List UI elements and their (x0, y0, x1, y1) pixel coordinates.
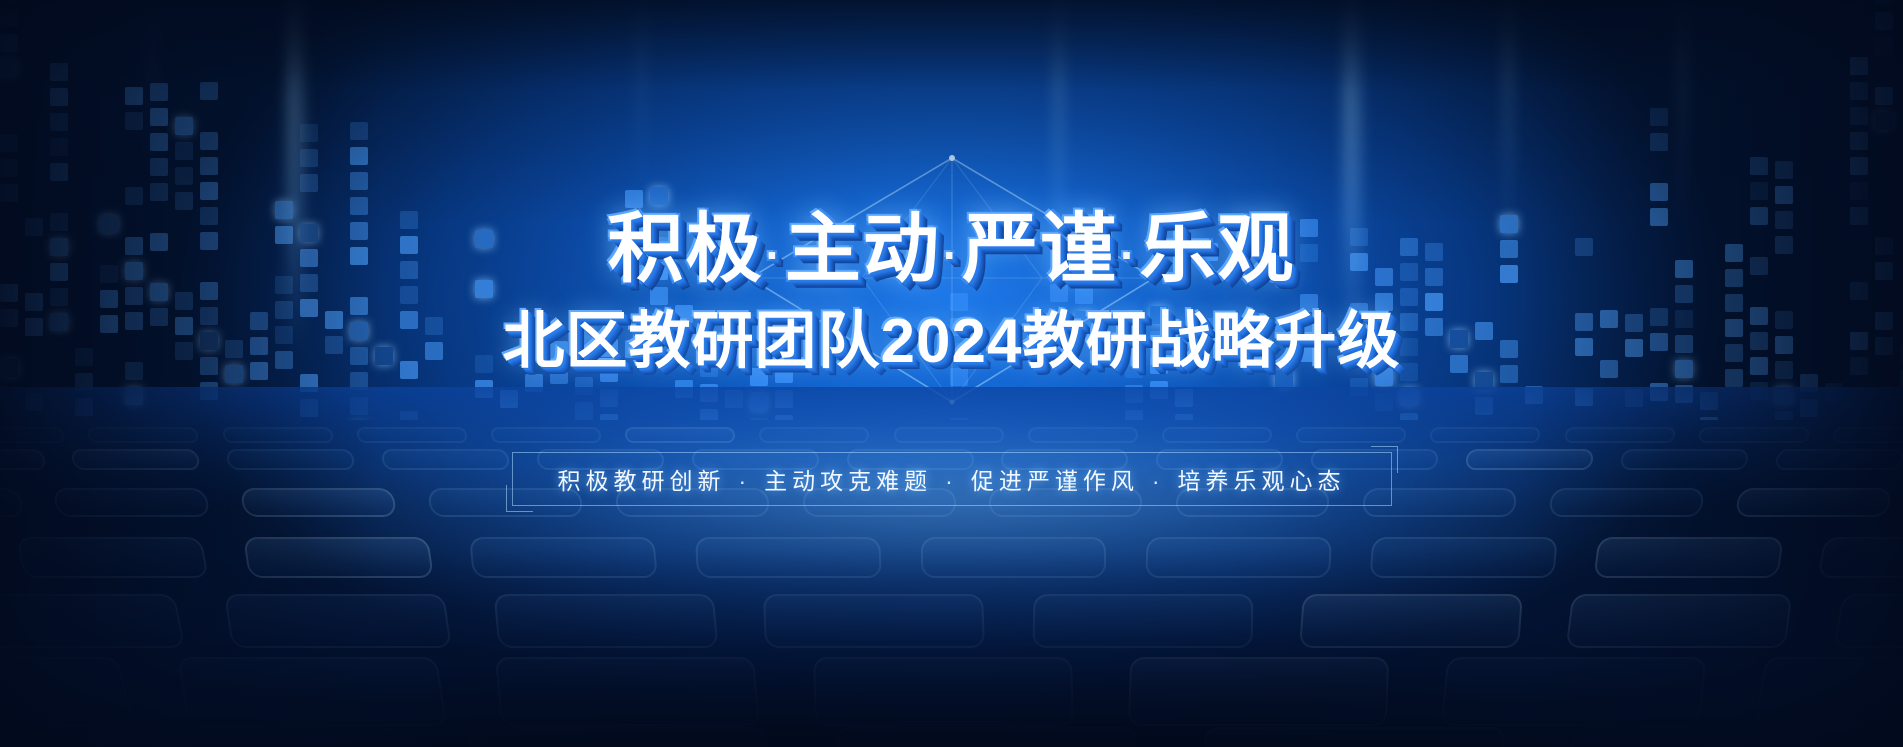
slogan-item: 主动攻克难题 (764, 468, 932, 494)
slogan-text: 积极教研创新·主动攻克难题·促进严谨作风·培养乐观心态 (557, 462, 1345, 496)
slogan-item: 积极教研创新 (557, 468, 725, 494)
banner-canvas: 积极·主动·严谨·乐观 北区教研团队2024教研战略升级 积极教研创新·主动攻克… (0, 0, 1903, 747)
slogan-item: 促进严谨作风 (971, 468, 1139, 494)
banner-subheadline-row: 北区教研团队2024教研战略升级 (0, 311, 1903, 373)
headline-separator: · (764, 229, 785, 281)
headline-word: 主动 (785, 207, 941, 292)
headline-row: 积极·主动·严谨·乐观 (0, 212, 1903, 288)
slogan-frame: 积极教研创新·主动攻克难题·促进严谨作风·培养乐观心态 (512, 452, 1392, 506)
headline-word: 严谨 (962, 207, 1118, 292)
slogan-separator: · (932, 468, 971, 494)
headline-word: 乐观 (1139, 207, 1295, 292)
banner-subheadline: 北区教研团队2024教研战略升级 (503, 311, 1401, 373)
headline-word: 积极 (608, 207, 764, 292)
headline-separator: · (941, 229, 962, 281)
slogan-separator: · (725, 468, 764, 494)
slogan-item: 培养乐观心态 (1178, 468, 1346, 494)
headline-separator: · (1118, 229, 1139, 281)
banner-headline: 积极·主动·严谨·乐观 (608, 212, 1296, 288)
slogan-separator: · (1139, 468, 1178, 494)
